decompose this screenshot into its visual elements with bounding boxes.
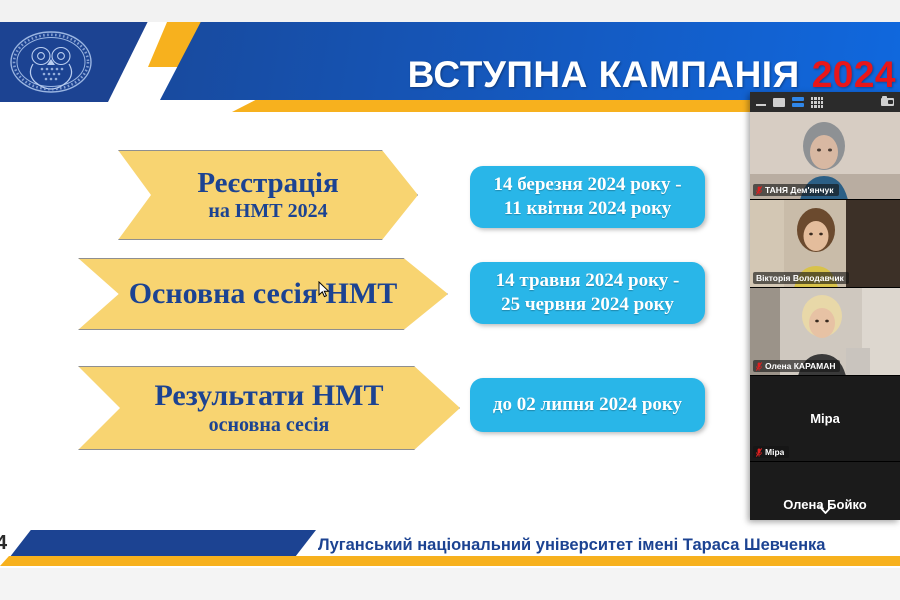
stage-chevron-registration[interactable]: Реєстрація на НМТ 2024	[118, 150, 418, 240]
chevron-title: Результати НМТ	[155, 380, 384, 412]
participant-name-badge: ТАНЯ Дем'янчук	[753, 184, 839, 196]
chevron-title: Реєстрація	[197, 168, 338, 198]
date-line: 14 травня 2024 року -	[496, 269, 680, 293]
chevron-subtitle: на НМТ 2024	[208, 200, 327, 222]
mic-muted-icon	[756, 448, 762, 457]
page-frame-top	[0, 0, 900, 22]
slide-footer: 4 Луганський національний університет ім…	[0, 524, 900, 568]
page-title-main: ВСТУПНА КАМПАНІЯ	[408, 56, 800, 93]
stage-chevron-main-session[interactable]: Основна сесія НМТ	[78, 258, 448, 330]
stage-chevron-results[interactable]: Результати НМТ основна сесія	[78, 366, 460, 450]
page-title-year: 2024	[812, 56, 896, 93]
split-view-icon[interactable]	[792, 97, 804, 107]
participant-name: ТАНЯ Дем'янчук	[765, 185, 834, 195]
footer-organization-name: Луганський національний університет імен…	[318, 533, 888, 557]
date-line: до 02 липня 2024 року	[493, 393, 682, 417]
participant-name: Олена КАРАМАН	[765, 361, 835, 371]
participant-name-badge: Міра	[753, 446, 789, 458]
stage-date-registration: 14 березня 2024 року - 11 квітня 2024 ро…	[470, 166, 705, 228]
chevron-subtitle: основна сесія	[209, 414, 330, 436]
participant-name-badge: Вікторія Володавчик	[753, 272, 849, 284]
footer-yellow-bar	[0, 556, 900, 566]
timeline-rows: Реєстрація на НМТ 2024 14 березня 2024 р…	[0, 130, 760, 470]
participant-tile[interactable]: ТАНЯ Дем'янчук	[750, 112, 900, 200]
participant-tile[interactable]: Міра Міра	[750, 376, 900, 462]
video-conference-panel[interactable]: ТАНЯ Дем'янчук Вікторія Володавчик	[750, 92, 900, 520]
mouse-cursor-icon	[318, 281, 330, 299]
timeline-row: Реєстрація на НМТ 2024 14 березня 2024 р…	[0, 144, 760, 244]
minimize-icon[interactable]	[756, 99, 766, 106]
mic-muted-icon	[756, 186, 762, 195]
participant-name: Міра	[765, 447, 784, 457]
single-view-icon[interactable]	[773, 98, 785, 107]
slide-canvas: ВСТУПНА КАМПАНІЯ 2024 Реєстрація на НМТ …	[0, 0, 900, 600]
page-frame-bottom	[0, 568, 900, 600]
participant-name: Вікторія Володавчик	[756, 273, 844, 283]
timeline-row: Основна сесія НМТ 14 травня 2024 року - …	[0, 256, 760, 338]
date-line: 25 червня 2024 року	[501, 293, 674, 317]
popout-icon[interactable]	[881, 96, 894, 107]
stage-date-results: до 02 липня 2024 року	[470, 378, 705, 432]
stage-date-main-session: 14 травня 2024 року - 25 червня 2024 рок…	[470, 262, 705, 324]
timeline-row: Результати НМТ основна сесія до 02 липня…	[0, 362, 760, 454]
date-line: 14 березня 2024 року -	[493, 173, 681, 197]
date-line: 11 квітня 2024 року	[504, 197, 672, 221]
mic-muted-icon	[756, 362, 762, 371]
slide-number: 4	[0, 532, 22, 555]
chevron-down-icon[interactable]	[750, 502, 900, 518]
video-panel-toolbar[interactable]	[750, 92, 900, 112]
chevron-title: Основна сесія НМТ	[129, 278, 398, 310]
participant-name-badge: Олена КАРАМАН	[753, 360, 840, 372]
participant-display-name: Міра	[810, 411, 840, 426]
university-owl-emblem-icon	[8, 28, 94, 96]
grid-view-icon[interactable]	[811, 97, 823, 108]
participant-tile[interactable]: Вікторія Володавчик	[750, 200, 900, 288]
participant-tile[interactable]: Олена КАРАМАН	[750, 288, 900, 376]
